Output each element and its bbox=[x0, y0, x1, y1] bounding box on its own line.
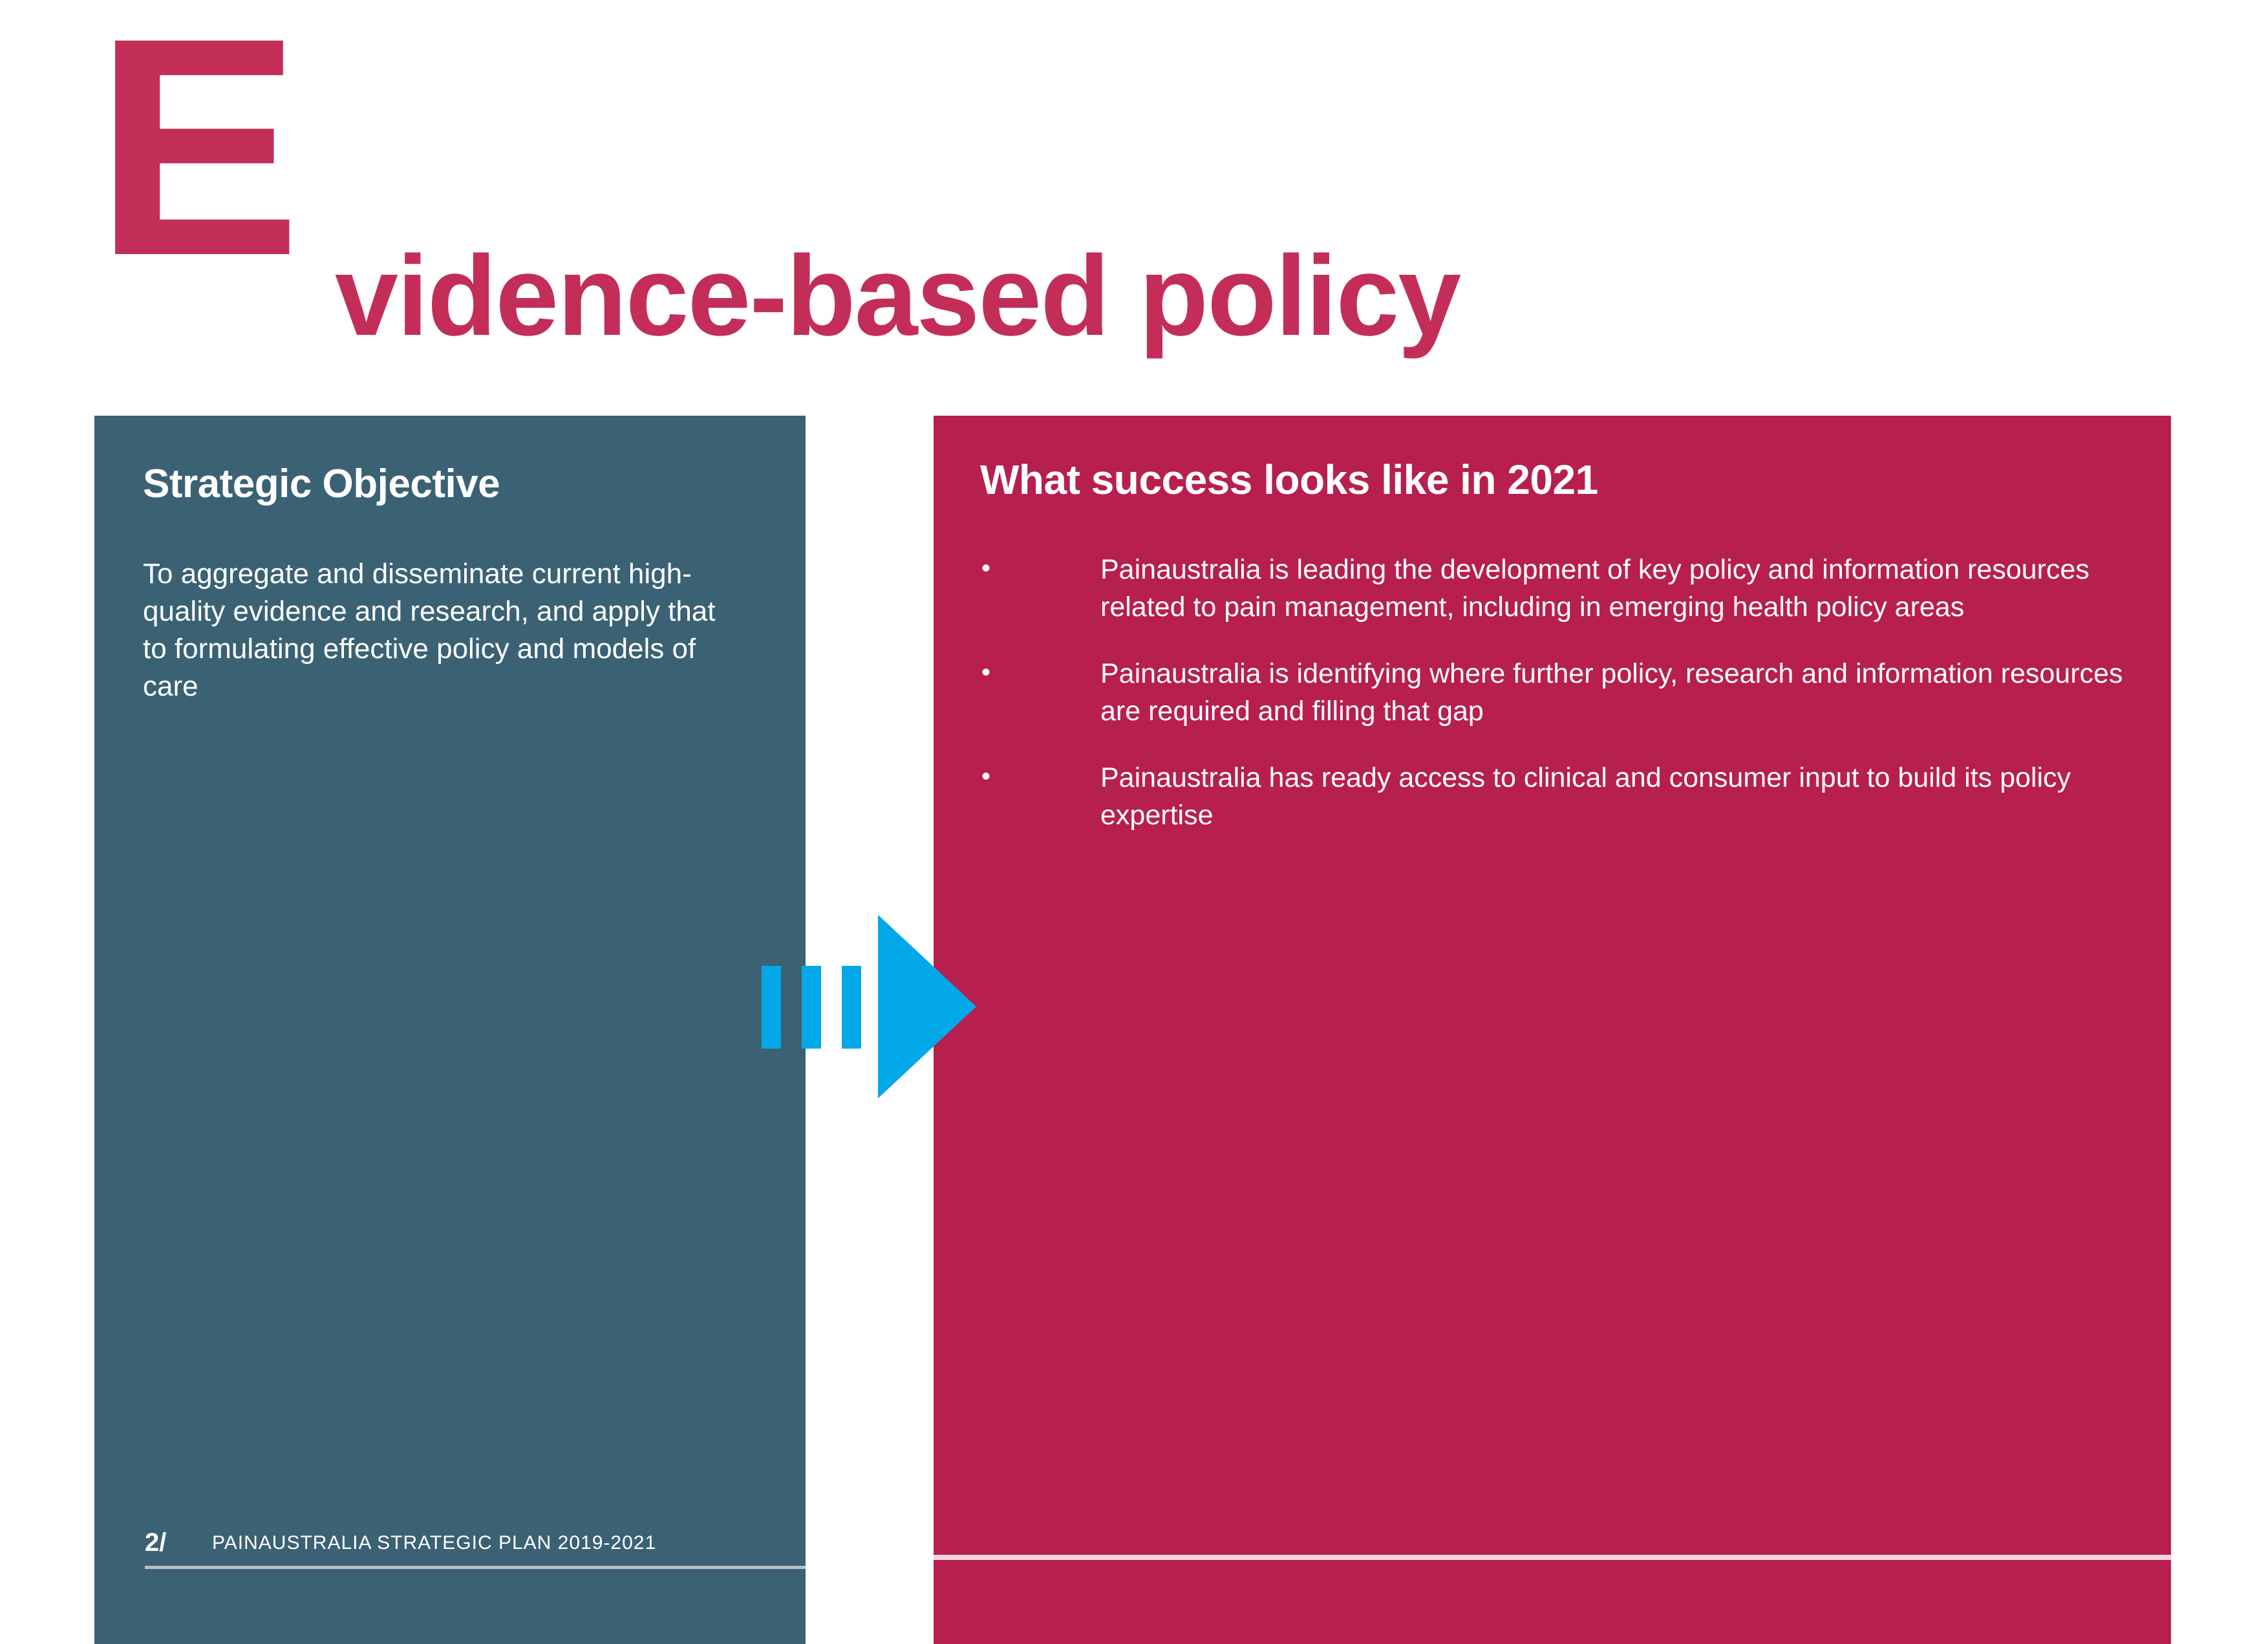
bullet-dot-icon: • bbox=[981, 659, 1001, 685]
arrow-bar-2 bbox=[802, 966, 821, 1049]
page-number: 2/ bbox=[145, 1530, 166, 1555]
strategic-objective-panel: Strategic Objective To aggregate and dis… bbox=[94, 416, 806, 1644]
slide-footer: 2/ PAINAUSTRALIA STRATEGIC PLAN 2019-202… bbox=[94, 1524, 806, 1576]
list-item: • Painaustralia is identifying where fur… bbox=[972, 656, 2143, 730]
list-item: • Painaustralia is leading the developme… bbox=[972, 551, 2143, 626]
success-criteria-panel: What success looks like in 2021 • Painau… bbox=[934, 416, 2171, 1644]
title-remainder: vidence-based policy bbox=[335, 239, 1460, 353]
success-criteria-list: • Painaustralia is leading the developme… bbox=[972, 551, 2143, 864]
strategic-objective-body: To aggregate and disseminate current hig… bbox=[143, 555, 744, 705]
footer-divider bbox=[145, 1566, 806, 1569]
forward-arrow-icon bbox=[762, 915, 978, 1099]
list-item-text: Painaustralia is identifying where furth… bbox=[1100, 656, 2143, 730]
footer-label: PAINAUSTRALIA STRATEGIC PLAN 2019-2021 bbox=[212, 1533, 656, 1553]
strategic-objective-heading: Strategic Objective bbox=[143, 461, 500, 507]
right-panel-divider bbox=[934, 1555, 2171, 1560]
list-item-text: Painaustralia is leading the development… bbox=[1100, 551, 2143, 626]
title-drop-cap: E bbox=[94, 26, 297, 268]
page-title: E vidence-based policy bbox=[94, 26, 1775, 349]
list-item-text: Painaustralia has ready access to clinic… bbox=[1100, 760, 2143, 834]
arrow-head-triangle bbox=[878, 915, 976, 1098]
bullet-dot-icon: • bbox=[981, 763, 1001, 789]
list-item: • Painaustralia has ready access to clin… bbox=[972, 760, 2143, 834]
bullet-dot-icon: • bbox=[981, 555, 1001, 581]
arrow-bar-3 bbox=[842, 966, 861, 1049]
success-criteria-heading: What success looks like in 2021 bbox=[980, 456, 1598, 504]
arrow-bar-1 bbox=[762, 966, 781, 1049]
